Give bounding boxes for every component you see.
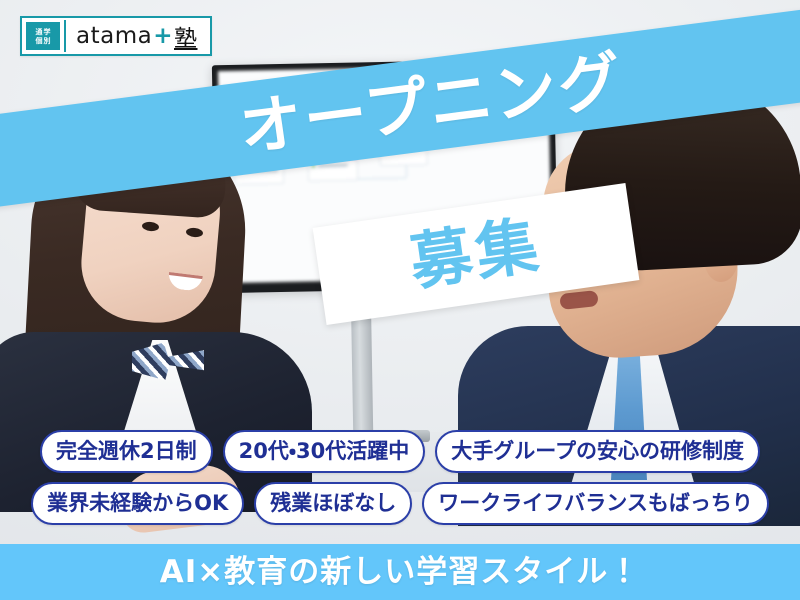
logo-name-kanji: 塾 <box>174 19 198 53</box>
tagline-bar: AI×教育の新しい学習スタイル！ <box>0 544 800 600</box>
feature-pill-group: 完全週休2日制 20代・30代活躍中 大手グループの安心の研修制度 業界未経験か… <box>0 430 800 525</box>
logo-badge: 通 学 個 別 <box>26 22 60 50</box>
logo-badge-char-3: 個 <box>36 37 43 45</box>
logo-plus-icon: + <box>153 23 173 49</box>
feature-pill: ワークライフバランスもばっちり <box>422 482 769 525</box>
recruitment-banner: オープニング 募集 通 学 個 別 atama + 塾 完全週休2日制 20代・… <box>0 0 800 600</box>
feature-pill: 20代・30代活躍中 <box>223 430 426 473</box>
brand-logo[interactable]: 通 学 個 別 atama + 塾 <box>20 16 212 56</box>
logo-badge-char-2: 学 <box>44 28 51 36</box>
feature-pill-row-2: 業界未経験からOK 残業ほぼなし ワークライフバランスもばっちり <box>31 482 769 525</box>
feature-pill: 業界未経験からOK <box>31 482 244 525</box>
feature-pill-row-1: 完全週休2日制 20代・30代活躍中 大手グループの安心の研修制度 <box>40 430 760 473</box>
feature-pill: 大手グループの安心の研修制度 <box>435 430 760 473</box>
headline-recruit-text: 募集 <box>406 214 546 294</box>
logo-badge-characters: 通 学 個 別 <box>36 28 51 45</box>
logo-badge-char-1: 通 <box>36 28 43 36</box>
feature-pill: 完全週休2日制 <box>40 430 213 473</box>
tagline-text: AI×教育の新しい学習スタイル！ <box>160 557 641 588</box>
feature-pill: 残業ほぼなし <box>254 482 412 525</box>
logo-badge-char-4: 別 <box>44 37 51 45</box>
logo-wordmark: atama + 塾 <box>66 18 210 54</box>
logo-name-latin: atama <box>76 23 152 49</box>
